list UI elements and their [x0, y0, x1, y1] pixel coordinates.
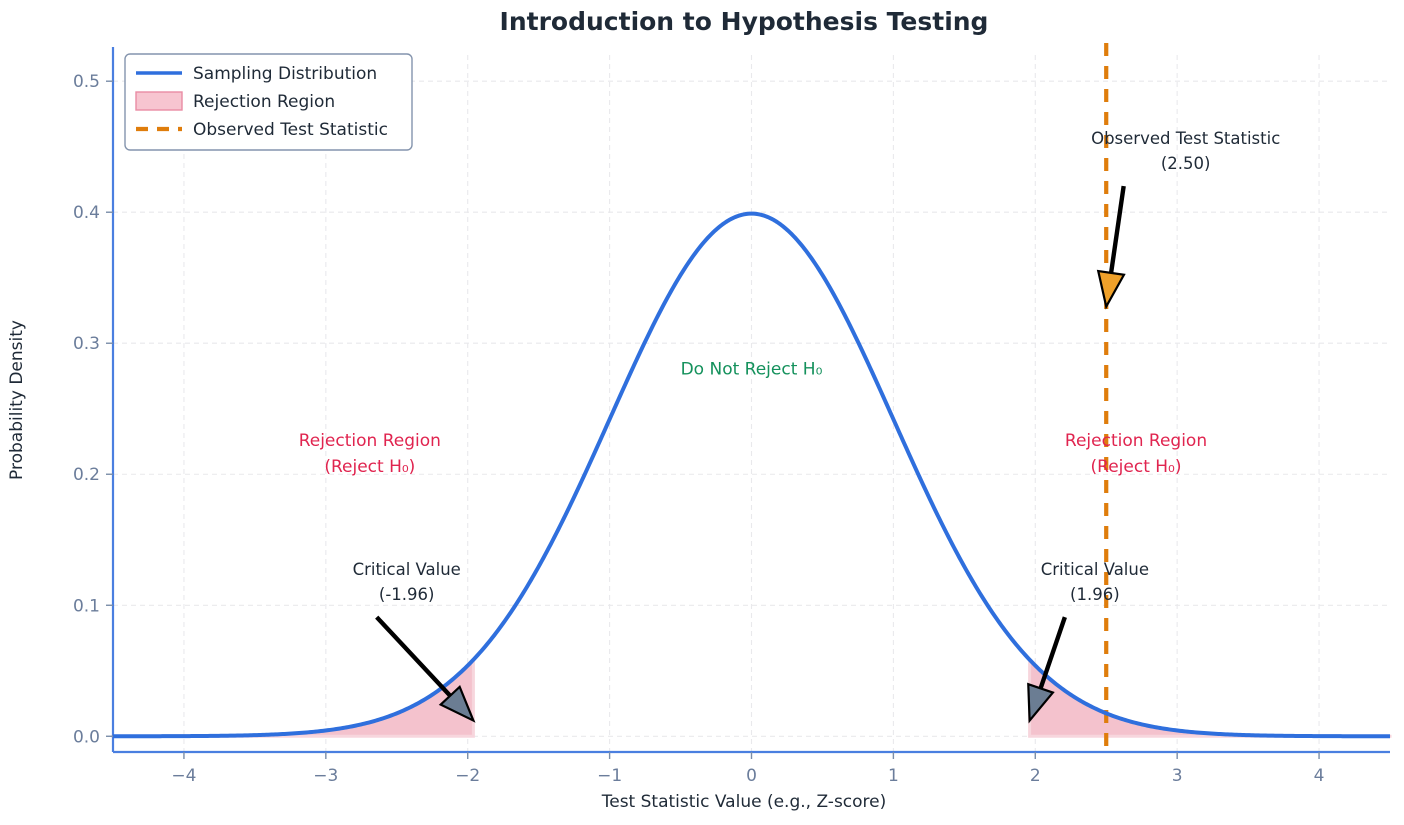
y-tick-label: 0.1: [73, 596, 100, 616]
y-tick-label: 0.3: [73, 334, 100, 354]
annotation-label-critical-right: Critical Value(1.96): [1041, 560, 1149, 604]
annotation-arrow-observed: [1098, 186, 1124, 306]
legend-label: Sampling Distribution: [193, 64, 377, 84]
x-tick-label: 1: [888, 766, 899, 786]
y-axis-label: Probability Density: [7, 320, 27, 480]
x-tick-label: −1: [597, 766, 622, 786]
hypothesis-testing-figure: −4−3−2−1012340.00.10.20.30.40.5 Observed…: [0, 0, 1404, 825]
legend-item-1[interactable]: Rejection Region: [136, 92, 335, 112]
x-tick-label: −2: [455, 766, 480, 786]
x-tick-label: 4: [1314, 766, 1325, 786]
y-tick-label: 0.2: [73, 465, 100, 485]
x-tick-label: −3: [313, 766, 338, 786]
region-label-reject-left: Rejection Region(Reject H₀): [299, 431, 441, 477]
annotation-label-observed: Observed Test Statistic(2.50): [1091, 129, 1280, 173]
region-label-do-not-reject: Do Not Reject H₀: [681, 360, 823, 380]
x-tick-label: 0: [746, 766, 757, 786]
legend-label: Observed Test Statistic: [193, 120, 388, 140]
region-label-reject-right: Rejection Region(Reject H₀): [1065, 431, 1207, 477]
region-labels: Do Not Reject H₀Rejection Region(Reject …: [299, 360, 1207, 477]
x-tick-label: 3: [1172, 766, 1183, 786]
chart-canvas: −4−3−2−1012340.00.10.20.30.40.5 Observed…: [0, 0, 1404, 825]
y-tick-label: 0.5: [73, 72, 100, 92]
legend[interactable]: Sampling DistributionRejection RegionObs…: [125, 54, 412, 150]
y-tick-label: 0.0: [73, 727, 100, 747]
x-tick-label: 2: [1030, 766, 1041, 786]
x-axis-label: Test Statistic Value (e.g., Z-score): [601, 792, 887, 812]
x-tick-label: −4: [171, 766, 196, 786]
annotation-label-critical-left: Critical Value(-1.96): [353, 560, 461, 604]
page-title: Introduction to Hypothesis Testing: [500, 7, 989, 36]
axis-ticks: −4−3−2−1012340.00.10.20.30.40.5: [73, 72, 1325, 786]
legend-label: Rejection Region: [193, 92, 335, 112]
y-tick-label: 0.4: [73, 203, 100, 223]
